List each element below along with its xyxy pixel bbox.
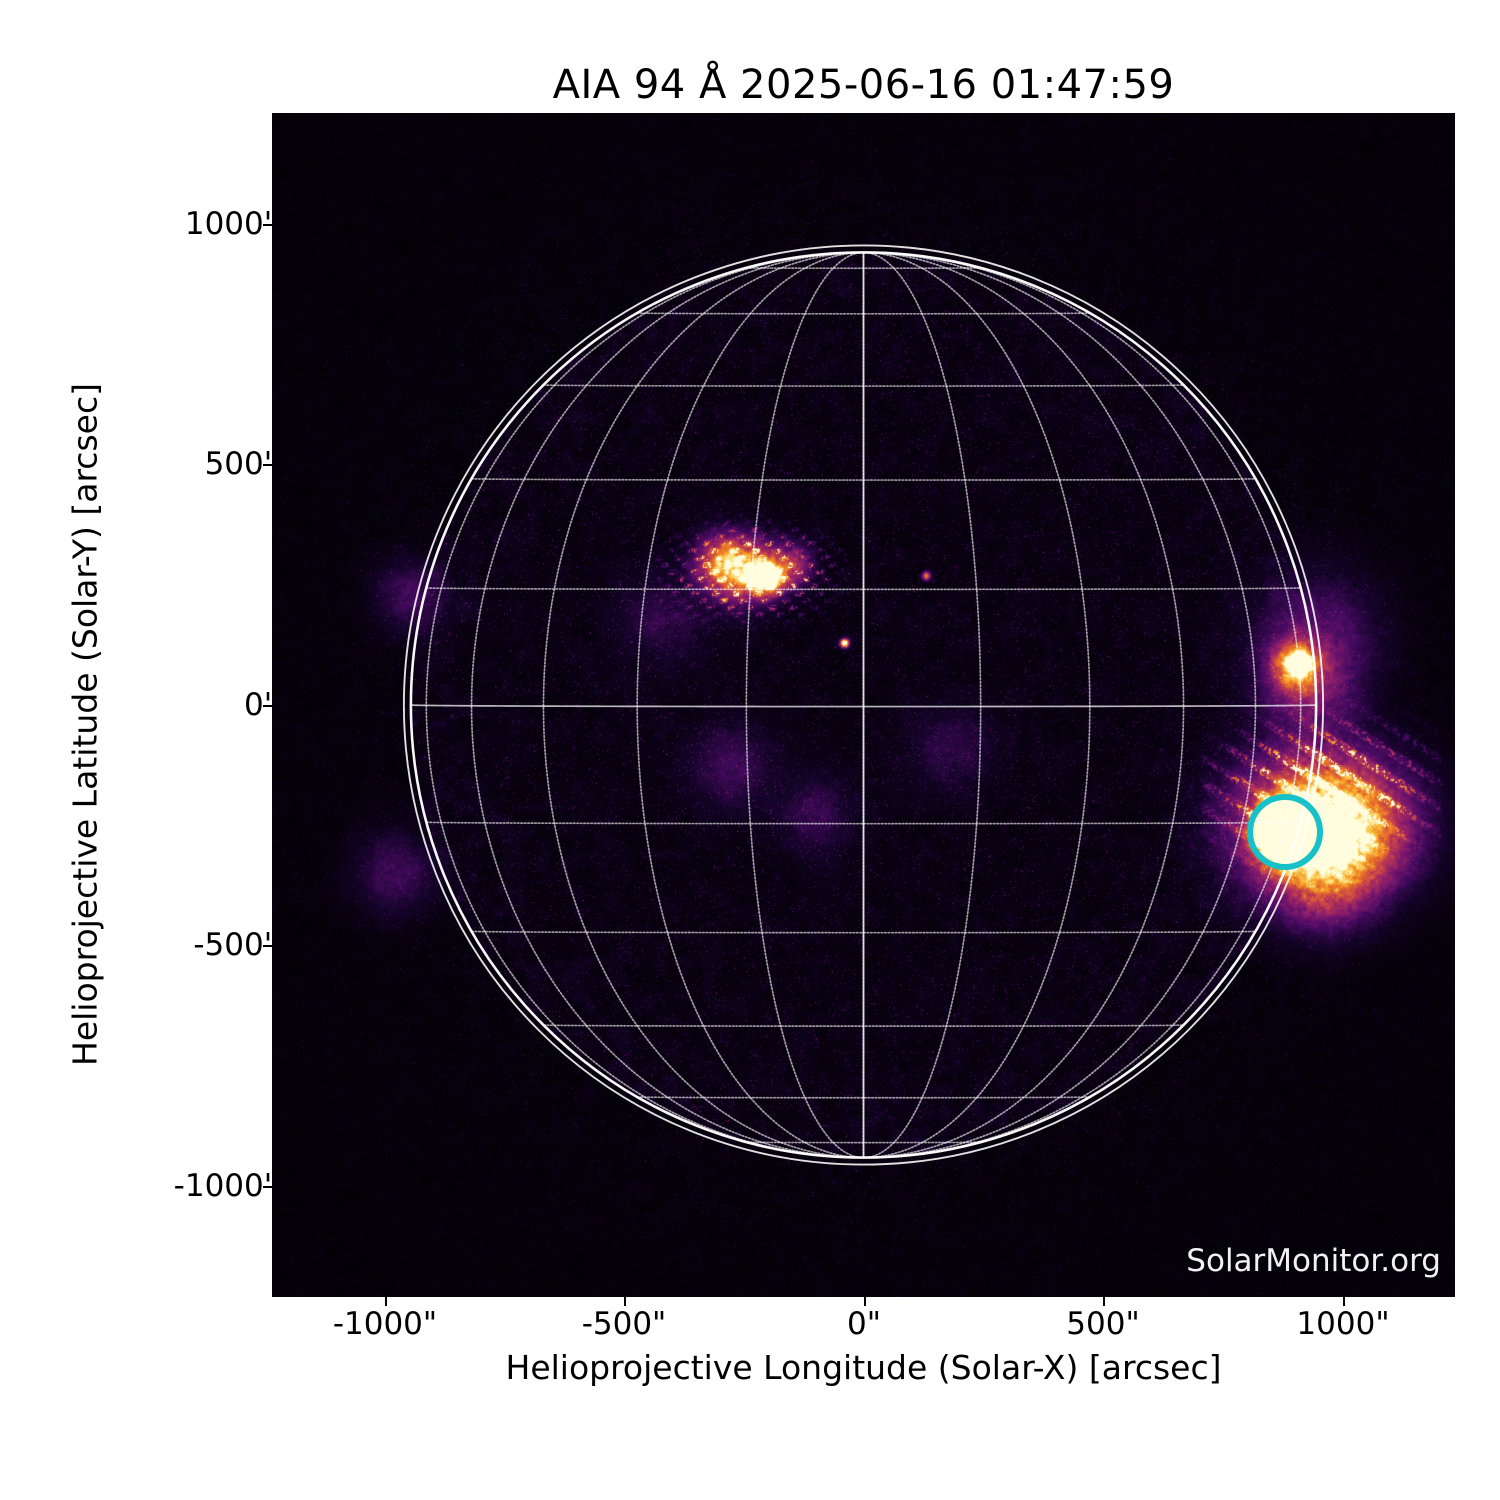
ytick-label-neg500: -500" (193, 927, 278, 963)
page-title: AIA 94 Å 2025-06-16 01:47:59 (272, 62, 1455, 108)
xtick-mark-1000 (1343, 1297, 1345, 1306)
xtick-mark-500 (1103, 1297, 1105, 1306)
xtick-label-neg500: -500" (582, 1306, 667, 1342)
xtick-mark-neg500 (624, 1297, 626, 1306)
xtick-label-500: 500" (1066, 1306, 1139, 1342)
ytick-label-neg1000: -1000" (174, 1168, 278, 1204)
y-axis-label: Helioprojective Latitude (Solar-Y) [arcs… (66, 225, 105, 1225)
xtick-label-neg1000: -1000" (333, 1306, 437, 1342)
ytick-label-500: 500" (205, 446, 278, 482)
xtick-label-1000: 1000" (1296, 1306, 1389, 1342)
xtick-mark-0 (864, 1297, 866, 1306)
highlighted-active-region-marker[interactable] (1247, 794, 1324, 871)
x-axis-label: Helioprojective Longitude (Solar-X) [arc… (272, 1348, 1455, 1387)
watermark-label: SolarMonitor.org (1186, 1243, 1441, 1279)
solar-image-figure: AIA 94 Å 2025-06-16 01:47:59 1000" 500" … (0, 0, 1500, 1500)
xtick-label-0: 0" (847, 1306, 881, 1342)
ytick-label-1000: 1000" (185, 206, 278, 242)
xtick-mark-neg1000 (385, 1297, 387, 1306)
heliographic-grid-overlay (272, 113, 1455, 1297)
solar-image-plot-area: SolarMonitor.org (272, 113, 1455, 1297)
